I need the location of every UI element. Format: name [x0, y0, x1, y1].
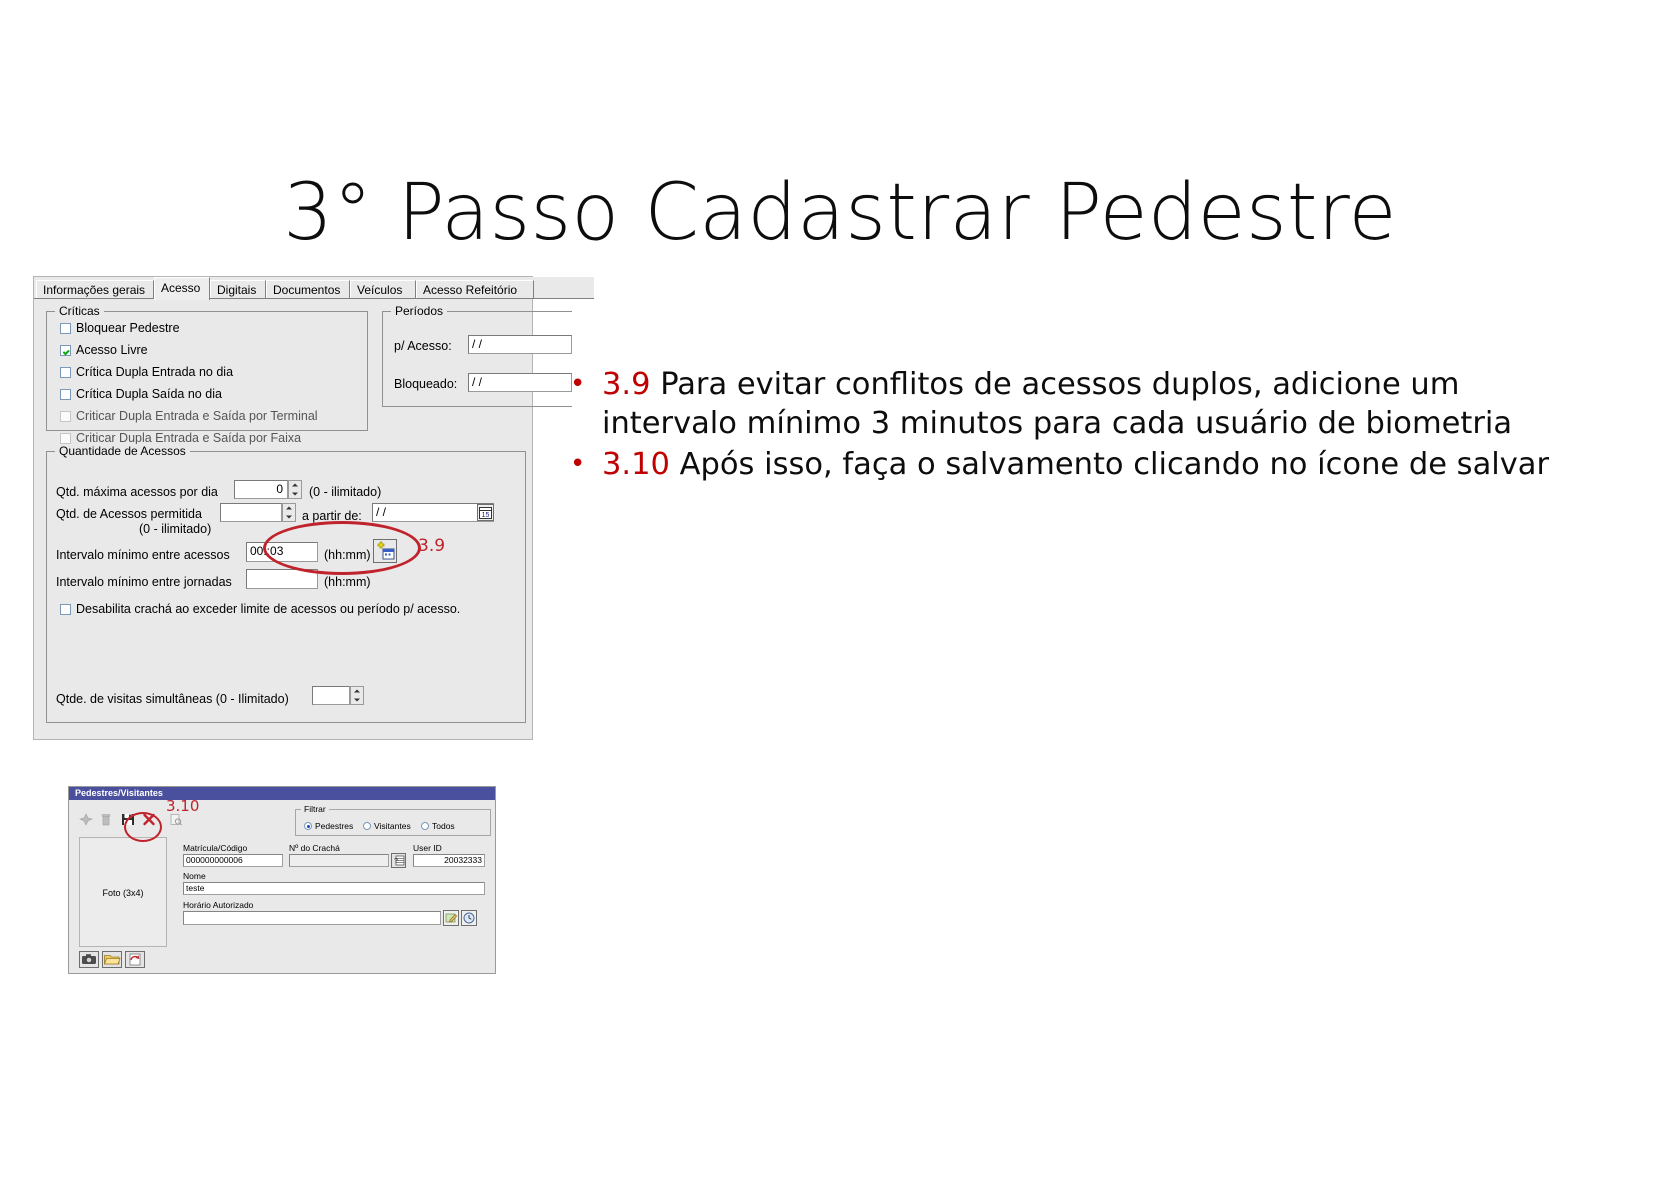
matricula-label: Matrícula/Código [183, 843, 247, 853]
clock-icon[interactable] [461, 910, 477, 926]
callout-3-9: 3.9 [418, 536, 445, 556]
pedestres-visitantes-dialog: Pedestres/Visitantes Filtrar Pedestres V… [68, 786, 496, 974]
cancel-icon[interactable] [142, 813, 157, 827]
criticas-group-title: Críticas [55, 304, 104, 318]
horario-autorizado-label: Horário Autorizado [183, 900, 253, 910]
periodos-group: Períodos [382, 311, 572, 407]
cracha-input[interactable] [289, 854, 389, 867]
radio-label: Visitantes [374, 821, 411, 831]
checkbox-label: Criticar Dupla Entrada e Saída por Faixa [76, 431, 301, 445]
edit-schedule-icon[interactable] [443, 910, 459, 926]
print-preview-icon[interactable] [169, 813, 184, 827]
photo-placeholder[interactable]: Foto (3x4) [79, 837, 167, 947]
matricula-input[interactable]: 000000000006 [183, 854, 283, 867]
list-item: • 3.9 Para evitar conflitos de acessos d… [560, 365, 1560, 443]
camera-icon[interactable] [79, 951, 99, 968]
bullet-number: 3.10 [602, 447, 670, 482]
visitas-simultaneas-input[interactable] [312, 686, 350, 705]
checkbox-critica-dupla-entrada-dia[interactable]: Crítica Dupla Entrada no dia [60, 365, 233, 379]
tab-informacoes-gerais[interactable]: Informações gerais [36, 280, 154, 298]
visitas-simultaneas-label: Qtde. de visitas simultâneas (0 - Ilimit… [56, 692, 289, 706]
user-id-input[interactable]: 20032333 [413, 854, 485, 867]
acesso-dialog: Informações gerais Acesso Digitais Docum… [33, 276, 533, 740]
a-partir-de-label: a partir de: [302, 509, 362, 523]
qtd-permitida-stepper[interactable] [282, 503, 296, 522]
window-title: Pedestres/Visitantes [69, 787, 495, 800]
qtd-maxima-label: Qtd. máxima acessos por dia [56, 485, 218, 499]
tab-strip: Informações gerais Acesso Digitais Docum… [34, 277, 594, 298]
bullet-dot-icon: • [570, 445, 585, 484]
quantidade-group-title: Quantidade de Acessos [55, 444, 190, 458]
open-folder-icon[interactable] [102, 951, 122, 968]
qtd-maxima-stepper[interactable] [288, 480, 302, 499]
bullet-dot-icon: • [570, 365, 585, 404]
checkbox-criticar-dupla-faixa: Criticar Dupla Entrada e Saída por Faixa [60, 431, 301, 445]
intervalo-acessos-label: Intervalo mínimo entre acessos [56, 548, 230, 562]
checkbox-label: Crítica Dupla Saída no dia [76, 387, 222, 401]
refresh-photo-icon[interactable] [125, 951, 145, 968]
add-schedule-icon[interactable] [373, 539, 397, 563]
cracha-lookup-icon[interactable]: ? [391, 853, 406, 868]
intervalo-acessos-input[interactable]: 00::03 [246, 542, 318, 562]
checkbox-label: Acesso Livre [76, 343, 148, 357]
checkbox-desabilita-cracha[interactable]: Desabilita crachá ao exceder limite de a… [60, 602, 460, 616]
visitas-simultaneas-stepper[interactable] [350, 686, 364, 705]
checkbox-checked-icon[interactable] [60, 345, 71, 356]
qtd-permitida-input[interactable] [220, 503, 282, 522]
svg-text:15: 15 [482, 512, 490, 519]
save-icon[interactable] [121, 813, 136, 827]
qtd-maxima-hint: (0 - ilimitado) [309, 485, 381, 499]
page-title: 3° Passo Cadastrar Pedestre [0, 168, 1680, 258]
checkbox-label: Desabilita crachá ao exceder limite de a… [76, 602, 460, 616]
list-item: • 3.10 Após isso, faça o salvamento clic… [560, 445, 1560, 484]
radio-icon[interactable] [421, 822, 429, 830]
checkbox-label: Criticar Dupla Entrada e Saída por Termi… [76, 409, 318, 423]
bullet-number: 3.9 [602, 367, 651, 402]
nome-input[interactable]: teste [183, 882, 485, 895]
qtd-maxima-input[interactable]: 0 [234, 480, 288, 499]
bullet-list: • 3.9 Para evitar conflitos de acessos d… [560, 365, 1560, 486]
checkbox-icon[interactable] [60, 367, 71, 378]
tab-veiculos[interactable]: Veículos [350, 280, 416, 298]
filtrar-group-title: Filtrar [301, 804, 329, 814]
radio-selected-icon[interactable] [304, 822, 312, 830]
checkbox-icon[interactable] [60, 604, 71, 615]
checkbox-label: Crítica Dupla Entrada no dia [76, 365, 233, 379]
tab-documentos[interactable]: Documentos [266, 280, 350, 298]
tab-digitais[interactable]: Digitais [210, 280, 266, 298]
cracha-label: Nº do Crachá [289, 843, 340, 853]
periodo-bloqueado-input[interactable]: / / [468, 373, 572, 392]
checkbox-label: Bloquear Pedestre [76, 321, 180, 335]
periodo-acesso-label: p/ Acesso: [394, 339, 452, 353]
nome-label: Nome [183, 871, 206, 881]
a-partir-de-input[interactable]: / / [372, 503, 494, 522]
radio-icon[interactable] [363, 822, 371, 830]
horario-autorizado-input[interactable] [183, 911, 441, 925]
checkbox-disabled-icon [60, 433, 71, 444]
checkbox-bloquear-pedestre[interactable]: Bloquear Pedestre [60, 321, 180, 335]
checkbox-acesso-livre[interactable]: Acesso Livre [60, 343, 148, 357]
checkbox-disabled-icon [60, 411, 71, 422]
periodo-acesso-input[interactable]: / / [468, 335, 572, 354]
tab-acesso[interactable]: Acesso [154, 277, 210, 300]
calendar-icon[interactable]: 15 [477, 504, 494, 521]
radio-label: Pedestres [315, 821, 353, 831]
intervalo-jornadas-label: Intervalo mínimo entre jornadas [56, 575, 232, 589]
intervalo-jornadas-input[interactable] [246, 569, 318, 589]
radio-todos[interactable]: Todos [421, 821, 455, 831]
checkbox-critica-dupla-saida-dia[interactable]: Crítica Dupla Saída no dia [60, 387, 222, 401]
intervalo-jornadas-unit: (hh:mm) [324, 575, 371, 589]
radio-label: Todos [432, 821, 455, 831]
delete-icon[interactable] [99, 813, 114, 827]
checkbox-icon[interactable] [60, 323, 71, 334]
qtd-permitida-hint: (0 - ilimitado) [139, 522, 211, 536]
callout-3-10: 3.10 [166, 797, 199, 815]
bullet-text: Após isso, faça o salvamento clicando no… [680, 447, 1549, 482]
svg-text:?: ? [394, 858, 398, 865]
user-id-label: User ID [413, 843, 442, 853]
checkbox-criticar-dupla-terminal: Criticar Dupla Entrada e Saída por Termi… [60, 409, 318, 423]
tab-underline [34, 298, 594, 299]
radio-visitantes[interactable]: Visitantes [363, 821, 411, 831]
tab-acesso-refeitorio[interactable]: Acesso Refeitório [416, 280, 534, 298]
periodos-group-title: Períodos [391, 304, 447, 318]
periodo-bloqueado-label: Bloqueado: [394, 377, 457, 391]
qtd-permitida-label: Qtd. de Acessos permitida [56, 507, 202, 521]
intervalo-acessos-unit: (hh:mm) [324, 548, 371, 562]
bullet-text: Para evitar conflitos de acessos duplos,… [602, 367, 1512, 441]
radio-pedestres[interactable]: Pedestres [304, 821, 353, 831]
checkbox-icon[interactable] [60, 389, 71, 400]
new-icon[interactable] [79, 813, 94, 827]
